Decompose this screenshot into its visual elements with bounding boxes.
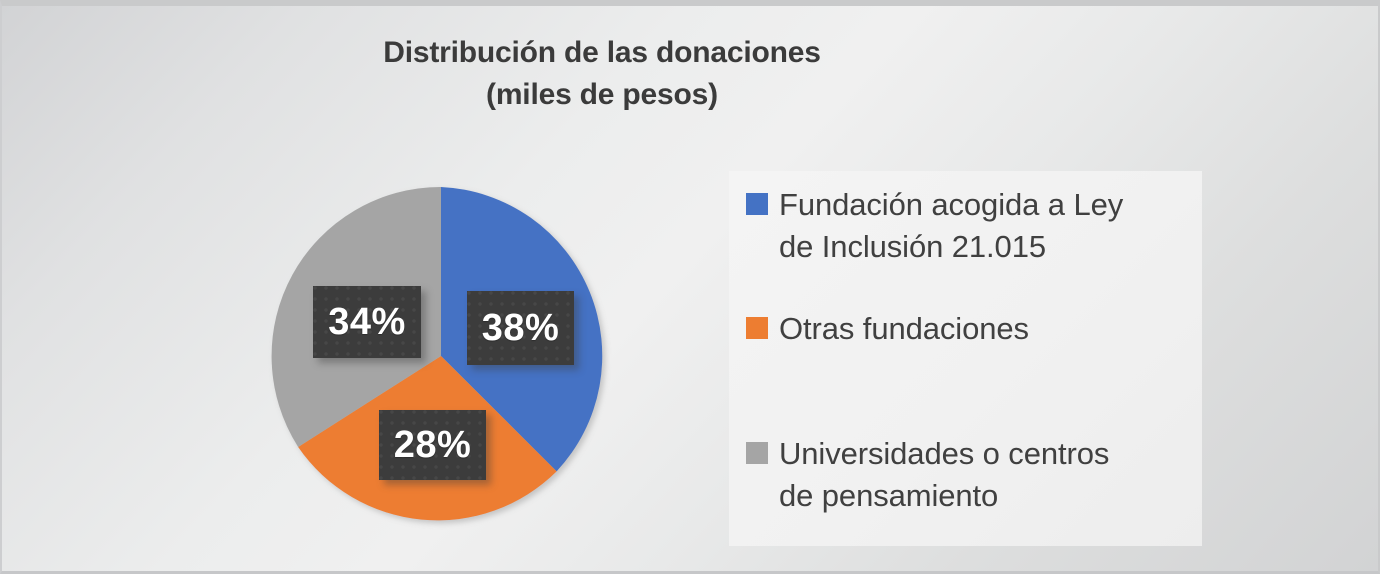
legend-label-line-1: Otras fundaciones xyxy=(779,308,1029,350)
legend-swatch-orange-icon xyxy=(746,317,768,339)
legend-item-otras-fundaciones[interactable]: Otras fundaciones xyxy=(746,308,1196,350)
chart-title: Distribución de las donaciones (miles de… xyxy=(122,32,1082,116)
legend-label-line-2: de Inclusión 21.015 xyxy=(779,226,1123,268)
legend-label-universidades-centros: Universidades o centros de pensamiento xyxy=(779,433,1109,517)
chart-title-line-2: (miles de pesos) xyxy=(122,74,1082,116)
legend-swatch-blue-icon xyxy=(746,193,768,215)
chart-title-line-1: Distribución de las donaciones xyxy=(122,32,1082,74)
legend-item-universidades-centros[interactable]: Universidades o centros de pensamiento xyxy=(746,433,1196,517)
legend-label-line-1: Universidades o centros xyxy=(779,433,1109,475)
chart-legend: Fundación acogida a Ley de Inclusión 21.… xyxy=(729,171,1202,546)
pie-data-label-fundacion-ley-inclusion: 38% xyxy=(467,291,574,365)
legend-label-otras-fundaciones: Otras fundaciones xyxy=(779,308,1029,350)
legend-item-fundacion-ley-inclusion[interactable]: Fundación acogida a Ley de Inclusión 21.… xyxy=(746,184,1196,268)
pie-data-label-universidades-centros: 34% xyxy=(313,286,421,358)
legend-swatch-gray-icon xyxy=(746,442,768,464)
legend-label-line-1: Fundación acogida a Ley xyxy=(779,184,1123,226)
chart-container: Distribución de las donaciones (miles de… xyxy=(0,0,1380,574)
pie-data-label-otras-fundaciones: 28% xyxy=(379,410,486,480)
legend-label-line-2: de pensamiento xyxy=(779,475,1109,517)
legend-label-fundacion-ley-inclusion: Fundación acogida a Ley de Inclusión 21.… xyxy=(779,184,1123,268)
